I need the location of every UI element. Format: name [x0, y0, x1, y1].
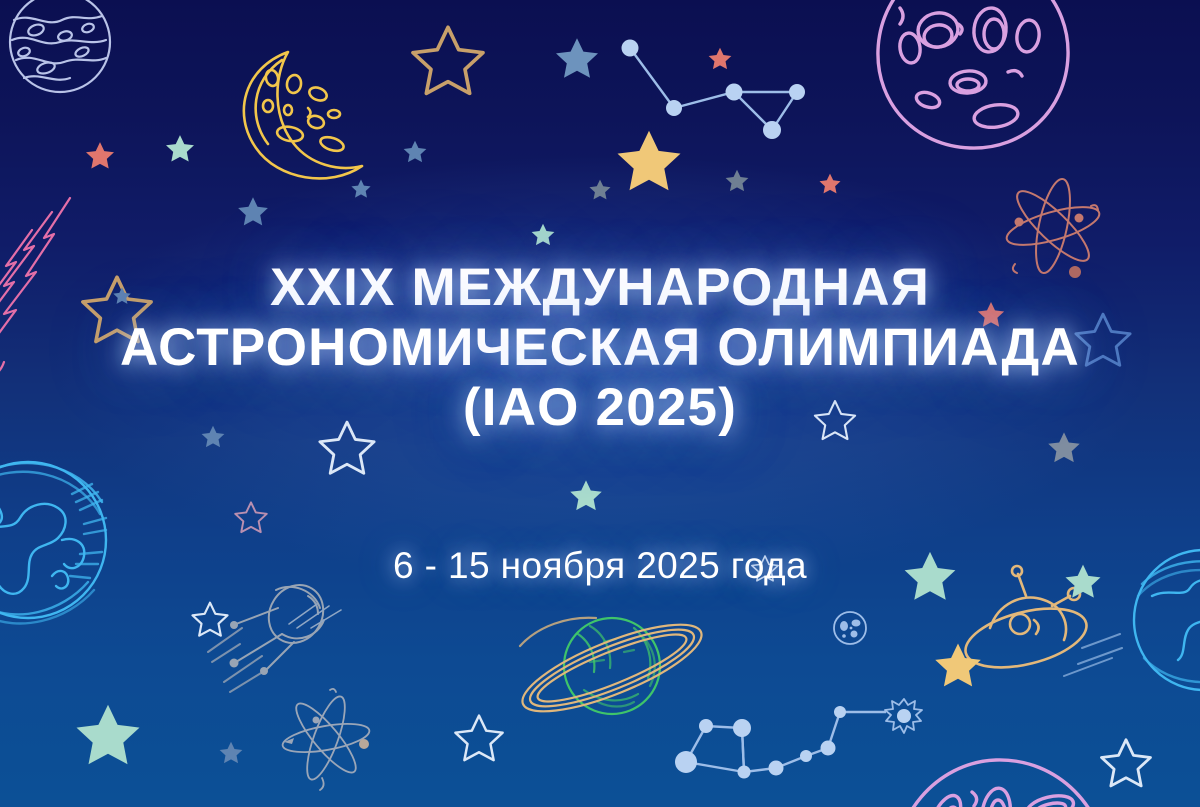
- star-steel-tiny3-icon: [218, 740, 244, 766]
- earth-globe-cyan-icon: [0, 436, 126, 646]
- atom-grey-icon: [272, 686, 382, 796]
- star-outline-pink-icon: [233, 500, 269, 536]
- star-red-small-icon: [707, 46, 733, 72]
- star-steel-mid-icon: [236, 195, 270, 229]
- star-gold-bottom-icon: [932, 640, 984, 692]
- star-slate-icon: [724, 168, 750, 194]
- saturn-green-ringed-icon: [512, 608, 712, 738]
- star-slate-small-icon: [588, 178, 612, 202]
- star-steel-icon: [553, 35, 601, 83]
- star-outline-gold-icon: [408, 22, 488, 102]
- poster-canvas: XXIX МЕЖДУНАРОДНАЯ АСТРОНОМИЧЕСКАЯ ОЛИМП…: [0, 0, 1200, 807]
- star-steel-small-icon: [402, 139, 428, 165]
- star-mint-icon: [164, 133, 196, 165]
- star-gold-icon: [613, 126, 685, 198]
- star-comet-small-icon: [285, 590, 355, 630]
- star-outline-white-4-icon: [452, 712, 506, 766]
- moon-cratered-pink-icon: [862, 0, 1092, 178]
- title-line-1: XXIX МЕЖДУНАРОДНАЯ: [0, 258, 1200, 318]
- planet-lavender-striped-icon: [2, 0, 122, 110]
- title-line-2: АСТРОНОМИЧЕСКАЯ ОЛИМПИАДА: [0, 318, 1200, 378]
- constellation-big-dipper-icon: [664, 686, 944, 796]
- sputnik-satellite-icon: [196, 576, 336, 706]
- constellation-cassiopeia-icon: [612, 30, 812, 150]
- star-outline-white-5-icon: [1098, 736, 1154, 792]
- star-outline-white-6-icon: [190, 600, 230, 640]
- star-mint-small-icon: [530, 222, 556, 248]
- star-red-tiny-icon: [818, 172, 842, 196]
- moon-icon-small-icon: [828, 606, 872, 650]
- star-mint-mid-icon: [568, 478, 604, 514]
- sun-icon-small-icon: [884, 696, 924, 736]
- star-mint-bottom3-icon: [72, 700, 144, 772]
- star-red-icon: [84, 140, 116, 172]
- page-title: XXIX МЕЖДУНАРОДНАЯ АСТРОНОМИЧЕСКАЯ ОЛИМП…: [0, 258, 1200, 438]
- title-line-3: (IAO 2025): [0, 378, 1200, 438]
- star-steel-tiny-icon: [350, 178, 372, 200]
- moon-cratered-pink-bottom-icon: [892, 746, 1122, 807]
- poster-title-block: XXIX МЕЖДУНАРОДНАЯ АСТРОНОМИЧЕСКАЯ ОЛИМП…: [0, 258, 1200, 438]
- crescent-moon-yellow-icon: [222, 48, 397, 188]
- event-date: 6 - 15 ноября 2025 года: [0, 545, 1200, 587]
